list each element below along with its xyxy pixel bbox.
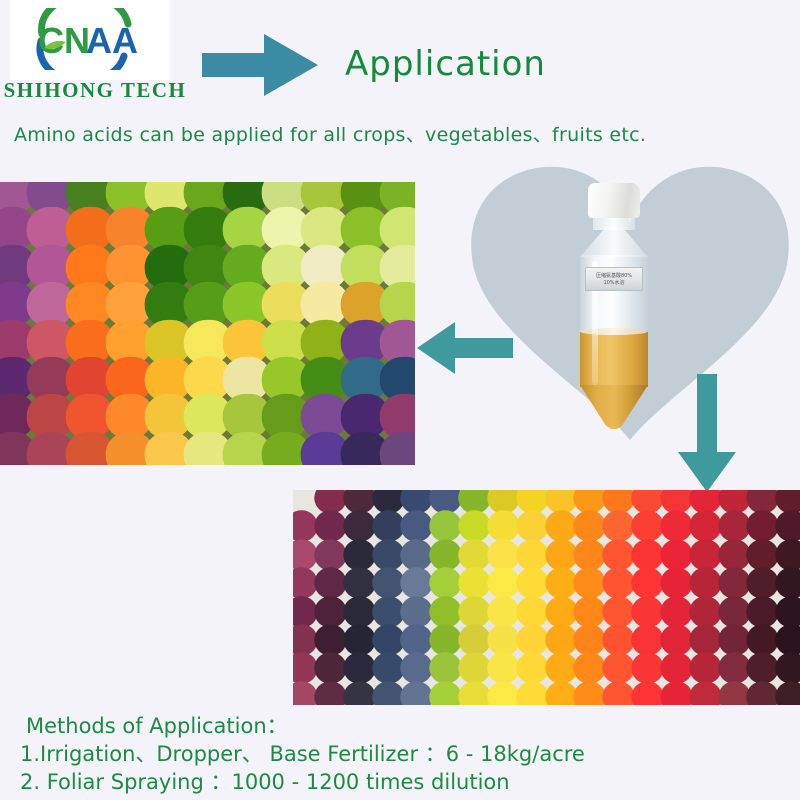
photo-cell xyxy=(574,539,606,571)
photo-cell xyxy=(747,539,779,571)
photo-cell xyxy=(429,653,461,685)
photo-cell xyxy=(775,539,800,571)
photo-cell xyxy=(343,681,375,705)
photo-cell xyxy=(689,624,721,656)
arrow-left-icon xyxy=(415,320,515,376)
photo-cell xyxy=(458,596,490,628)
photo-cell xyxy=(545,681,577,705)
arrow-right-icon xyxy=(200,32,320,98)
photo-cell xyxy=(602,596,634,628)
photo-cell xyxy=(487,539,519,571)
photo-cell xyxy=(487,511,519,543)
photo-cell xyxy=(689,539,721,571)
photo-cell xyxy=(631,681,663,705)
photo-cell xyxy=(314,596,346,628)
photo-cell xyxy=(545,653,577,685)
photo-cell xyxy=(660,624,692,656)
photo-cell xyxy=(372,567,404,599)
photo-cell xyxy=(689,596,721,628)
photo-cell xyxy=(458,653,490,685)
photo-cell xyxy=(689,511,721,543)
photo-cell xyxy=(458,567,490,599)
photo-cell xyxy=(602,681,634,705)
photo-cell xyxy=(775,624,800,656)
photo-cell xyxy=(747,511,779,543)
photo-cell xyxy=(747,653,779,685)
photo-cell xyxy=(689,681,721,705)
vegetables-photo xyxy=(0,182,415,465)
photo-cell xyxy=(545,567,577,599)
photo-cell xyxy=(718,511,750,543)
fruits-photo-content xyxy=(293,490,800,705)
photo-cell xyxy=(314,539,346,571)
photo-cell xyxy=(372,596,404,628)
photo-cell xyxy=(487,624,519,656)
photo-cell xyxy=(401,539,433,571)
photo-cell xyxy=(574,511,606,543)
photo-cell xyxy=(401,653,433,685)
photo-cell xyxy=(372,624,404,656)
photo-cell xyxy=(660,681,692,705)
photo-cell xyxy=(516,511,548,543)
photo-cell xyxy=(689,567,721,599)
svg-text:AA: AA xyxy=(86,20,138,61)
photo-cell xyxy=(429,624,461,656)
photo-cell xyxy=(574,653,606,685)
application-poster: CN AA SHIHONG TECH Application Amino aci… xyxy=(0,0,800,800)
photo-cell xyxy=(631,567,663,599)
photo-cell xyxy=(631,539,663,571)
photo-cell xyxy=(747,624,779,656)
bottle-cap xyxy=(588,183,640,218)
photo-cell xyxy=(314,567,346,599)
photo-cell xyxy=(401,567,433,599)
photo-cell xyxy=(401,681,433,705)
photo-cell xyxy=(343,653,375,685)
page-title: Application xyxy=(345,44,546,84)
company-name: SHIHONG TECH xyxy=(0,78,190,103)
photo-cell xyxy=(487,596,519,628)
photo-cell xyxy=(718,624,750,656)
methods-line-2: 2. Foliar Spraying ：1000 - 1200 times di… xyxy=(20,768,585,796)
photo-cell xyxy=(602,653,634,685)
photo-cell xyxy=(775,681,800,705)
photo-cell xyxy=(343,624,375,656)
photo-cell xyxy=(314,624,346,656)
photo-cell xyxy=(429,596,461,628)
photo-cell xyxy=(602,511,634,543)
photo-cell xyxy=(631,653,663,685)
bottle-liquid-surface xyxy=(580,328,648,335)
photo-cell xyxy=(314,511,346,543)
photo-cell xyxy=(775,567,800,599)
photo-cell xyxy=(380,432,415,465)
photo-cell xyxy=(372,511,404,543)
photo-cell xyxy=(545,539,577,571)
vegetables-photo-content xyxy=(0,182,415,465)
photo-cell xyxy=(574,596,606,628)
photo-cell xyxy=(487,567,519,599)
photo-cell xyxy=(775,653,800,685)
photo-cell xyxy=(660,596,692,628)
photo-cell xyxy=(660,653,692,685)
photo-cell xyxy=(516,653,548,685)
photo-cell xyxy=(631,596,663,628)
photo-cell xyxy=(487,653,519,685)
photo-cell xyxy=(401,511,433,543)
photo-cell xyxy=(718,653,750,685)
methods-line-1: 1.Irrigation、Dropper、 Base Fertilizer ：6… xyxy=(20,740,585,768)
photo-cell xyxy=(545,596,577,628)
tagline-text: Amino acids can be applied for all crops… xyxy=(14,120,646,147)
product-bottle: 压缩氨基酸80% 10%水溶 xyxy=(572,183,656,438)
bottle-shoulder xyxy=(580,227,648,257)
photo-cell xyxy=(487,681,519,705)
photo-cell xyxy=(429,567,461,599)
photo-cell xyxy=(516,539,548,571)
photo-cell xyxy=(574,567,606,599)
photo-cell xyxy=(458,624,490,656)
fruits-photo xyxy=(293,490,800,705)
photo-cell xyxy=(718,567,750,599)
photo-cell xyxy=(314,653,346,685)
photo-cell xyxy=(602,567,634,599)
photo-cell xyxy=(458,511,490,543)
methods-block: Methods of Application： 1.Irrigation、Dro… xyxy=(20,713,585,796)
brand-logo: CN AA SHIHONG TECH xyxy=(0,0,190,112)
photo-cell xyxy=(660,539,692,571)
photo-cell xyxy=(343,511,375,543)
bottle-base xyxy=(580,385,648,429)
photo-cell xyxy=(343,539,375,571)
bottle-liquid xyxy=(580,331,648,387)
photo-cell xyxy=(660,567,692,599)
photo-cell xyxy=(429,511,461,543)
photo-cell xyxy=(718,596,750,628)
photo-cell xyxy=(574,624,606,656)
photo-cell xyxy=(516,681,548,705)
photo-cell xyxy=(631,511,663,543)
photo-cell xyxy=(775,596,800,628)
photo-cell xyxy=(372,539,404,571)
arrow-down-icon xyxy=(676,372,738,494)
photo-cell xyxy=(343,567,375,599)
photo-cell xyxy=(747,567,779,599)
photo-cell xyxy=(747,681,779,705)
photo-cell xyxy=(574,681,606,705)
photo-cell xyxy=(775,511,800,543)
methods-title: Methods of Application： xyxy=(26,713,585,740)
photo-cell xyxy=(458,539,490,571)
photo-cell xyxy=(747,596,779,628)
photo-cell xyxy=(401,596,433,628)
bottle-label-line1: 压缩氨基酸80% xyxy=(596,273,632,279)
photo-cell xyxy=(545,511,577,543)
photo-cell xyxy=(660,511,692,543)
photo-cell xyxy=(314,681,346,705)
photo-cell xyxy=(602,539,634,571)
photo-cell xyxy=(631,624,663,656)
photo-cell xyxy=(343,596,375,628)
photo-cell xyxy=(718,539,750,571)
photo-cell xyxy=(372,681,404,705)
photo-cell xyxy=(429,539,461,571)
photo-cell xyxy=(516,624,548,656)
bottle-label-line2: 10%水溶 xyxy=(603,280,624,286)
photo-cell xyxy=(401,624,433,656)
bottle-label: 压缩氨基酸80% 10%水溶 xyxy=(585,267,643,291)
photo-cell xyxy=(429,681,461,705)
photo-cell xyxy=(516,567,548,599)
photo-cell xyxy=(718,681,750,705)
cnaa-logo-icon: CN AA xyxy=(24,8,154,70)
photo-cell xyxy=(602,624,634,656)
photo-cell xyxy=(689,653,721,685)
photo-cell xyxy=(516,596,548,628)
svg-text:CN: CN xyxy=(38,20,90,61)
photo-cell xyxy=(458,681,490,705)
photo-cell xyxy=(372,653,404,685)
photo-cell xyxy=(545,624,577,656)
